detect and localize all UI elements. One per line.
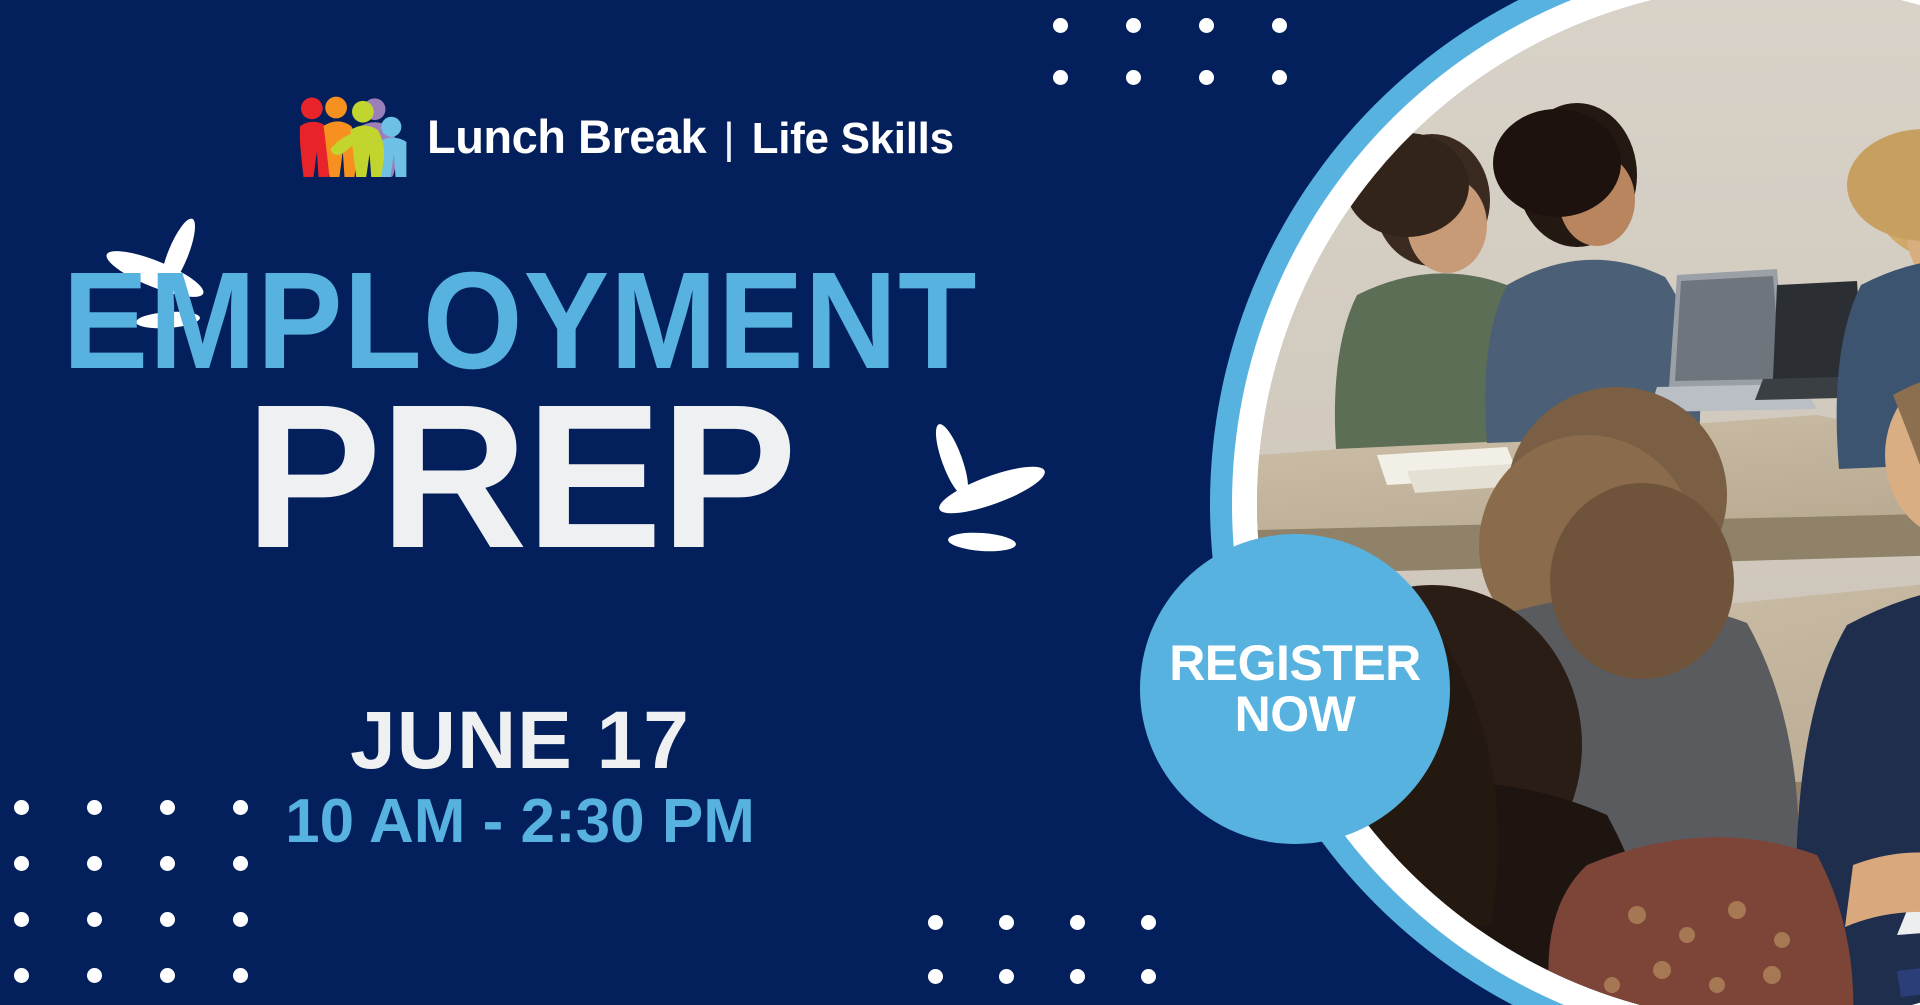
brand-separator: | <box>723 114 734 164</box>
program-name: Life Skills <box>752 114 954 164</box>
decor-dot <box>928 969 943 984</box>
event-date: JUNE 17 <box>0 700 1040 782</box>
decor-dot <box>1070 915 1085 930</box>
decor-dot <box>999 915 1014 930</box>
decor-dot <box>160 912 175 927</box>
workshop-photo-illustration <box>1257 0 1920 1005</box>
photo-image <box>1257 0 1920 1005</box>
event-time: 10 AM - 2:30 PM <box>0 788 1040 856</box>
decor-dot <box>160 968 175 983</box>
decor-dot <box>14 968 29 983</box>
decor-dot <box>928 915 943 930</box>
decor-dot <box>1053 70 1068 85</box>
decor-dot <box>233 968 248 983</box>
lunch-break-people-logo-icon <box>297 95 407 177</box>
headline-prep: PREP <box>0 383 1040 572</box>
decor-dot <box>1126 18 1141 33</box>
decor-dot <box>1053 18 1068 33</box>
brand-logo[interactable]: Lunch Break | Life Skills <box>297 95 954 177</box>
decor-dot <box>1141 915 1156 930</box>
decor-dot <box>160 856 175 871</box>
page-title: EMPLOYMENT PREP <box>0 255 1040 572</box>
decor-dot <box>14 856 29 871</box>
photo-circle <box>1210 0 1920 1005</box>
headline-employment: EMPLOYMENT <box>36 255 1003 387</box>
decor-dot <box>87 912 102 927</box>
event-details: JUNE 17 10 AM - 2:30 PM <box>0 700 1040 856</box>
decor-dot <box>233 856 248 871</box>
register-label-line2: NOW <box>1235 689 1356 740</box>
decor-dot <box>14 912 29 927</box>
register-now-button[interactable]: REGISTER NOW <box>1140 534 1450 844</box>
decor-dot <box>1070 969 1085 984</box>
flyer-canvas: Lunch Break | Life Skills EMPLOYMENT PRE… <box>0 0 1920 1005</box>
register-label-line1: REGISTER <box>1169 638 1421 689</box>
decor-dot <box>999 969 1014 984</box>
decor-dot <box>87 856 102 871</box>
decor-dot <box>1141 969 1156 984</box>
decor-dot <box>1126 70 1141 85</box>
brand-name: Lunch Break <box>427 109 706 164</box>
decor-dot <box>87 968 102 983</box>
decor-dot <box>233 912 248 927</box>
brand-wordmark: Lunch Break | Life Skills <box>427 109 954 164</box>
dot-grid-bottom-center <box>928 915 1212 1005</box>
